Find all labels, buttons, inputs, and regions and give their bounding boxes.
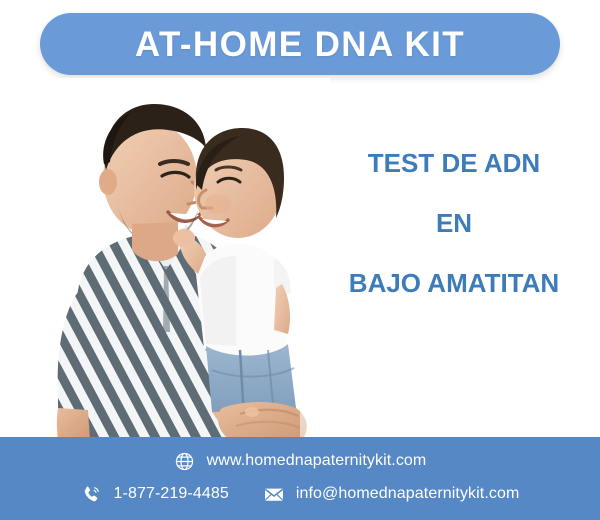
headline-line-2: EN <box>320 210 588 236</box>
footer-phone-item[interactable]: 1-877-219-4485 <box>81 483 229 505</box>
footer-contact-row: 1-877-219-4485 info@homednapaternitykit.… <box>0 483 600 505</box>
page-title: AT-HOME DNA KIT <box>135 27 465 62</box>
footer-email-label: info@homednapaternitykit.com <box>296 485 520 503</box>
father-holding-toddler-photo <box>0 78 330 440</box>
headline-line-1: TEST DE ADN <box>320 150 588 176</box>
poster-canvas: AT-HOME DNA KIT <box>0 0 600 520</box>
footer-phone-label: 1-877-219-4485 <box>114 485 229 503</box>
footer-website-item[interactable]: www.homednapaternitykit.com <box>174 450 427 472</box>
globe-icon <box>174 450 196 472</box>
footer-email-item[interactable]: info@homednapaternitykit.com <box>263 483 520 505</box>
footer-website-row: www.homednapaternitykit.com <box>0 450 600 472</box>
footer-band: www.homednapaternitykit.com 1-877-219-44… <box>0 437 600 520</box>
headline-line-3: BAJO AMATITAN <box>320 270 588 296</box>
envelope-icon <box>263 483 285 505</box>
footer-website-label: www.homednapaternitykit.com <box>207 452 427 470</box>
header-banner: AT-HOME DNA KIT <box>40 13 560 75</box>
headline-block: TEST DE ADN EN BAJO AMATITAN <box>320 150 588 296</box>
phone-icon <box>81 483 103 505</box>
